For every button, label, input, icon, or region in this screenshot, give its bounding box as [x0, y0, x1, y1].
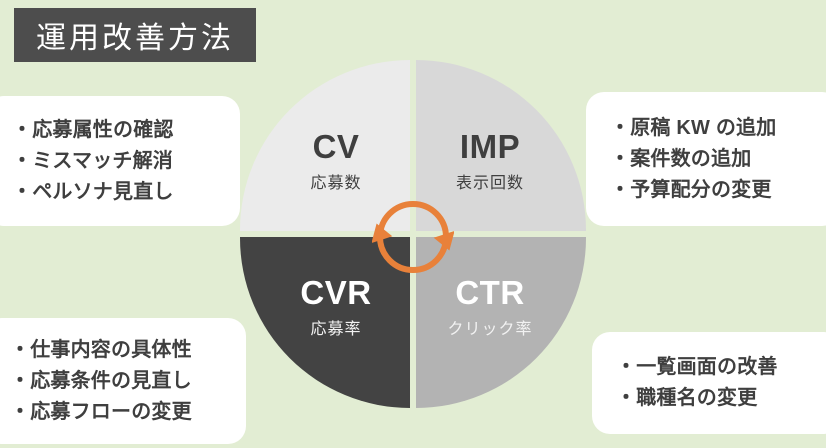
info-card-cvr: ・仕事内容の具体性 ・応募条件の見直し ・応募フローの変更: [0, 318, 246, 444]
info-card-ctr-line-2: ・職種名の変更: [616, 383, 826, 414]
info-card-cv-line-2: ・ミスマッチ解消: [12, 146, 240, 177]
quadrant-cv[interactable]: CV 応募数: [240, 60, 410, 232]
info-card-imp-line-3: ・予算配分の変更: [610, 175, 826, 206]
info-card-cv-line-1: ・応募属性の確認: [12, 115, 240, 146]
info-card-imp: ・原稿 KW の追加 ・案件数の追加 ・予算配分の変更: [586, 92, 826, 226]
info-card-ctr-line-1: ・一覧画面の改善: [616, 352, 826, 383]
quadrant-cv-code: CV: [313, 129, 360, 165]
info-card-cv-line-3: ・ペルソナ見直し: [12, 177, 240, 208]
info-card-ctr: ・一覧画面の改善 ・職種名の変更: [592, 332, 826, 434]
info-card-cvr-line-2: ・応募条件の見直し: [10, 366, 246, 397]
info-card-imp-line-1: ・原稿 KW の追加: [610, 113, 826, 144]
info-card-cv: ・応募属性の確認 ・ミスマッチ解消 ・ペルソナ見直し: [0, 96, 240, 226]
page-title: 運用改善方法: [36, 13, 234, 57]
info-card-cvr-line-1: ・仕事内容の具体性: [10, 335, 246, 366]
quadrant-cvr-label: 応募率: [310, 315, 361, 339]
info-card-cvr-line-3: ・応募フローの変更: [10, 397, 246, 428]
funnel-circle-diagram: CV 応募数 IMP 表示回数 CVR 応募率 CTR クリック率: [240, 60, 586, 408]
info-card-imp-line-2: ・案件数の追加: [610, 144, 826, 175]
quadrant-cvr-code: CVR: [300, 275, 371, 311]
quadrant-imp-label: 表示回数: [456, 169, 524, 193]
quadrant-ctr[interactable]: CTR クリック率: [416, 236, 586, 408]
quadrant-cv-label: 応募数: [310, 169, 361, 193]
quadrant-ctr-label: クリック率: [447, 315, 532, 339]
quadrant-imp[interactable]: IMP 表示回数: [416, 60, 586, 232]
page-title-banner: 運用改善方法: [14, 8, 256, 62]
quadrant-cvr[interactable]: CVR 応募率: [240, 236, 410, 408]
quadrant-ctr-code: CTR: [455, 275, 524, 311]
quadrant-imp-code: IMP: [460, 129, 520, 165]
quadrant-horizontal-divider: [238, 231, 588, 237]
